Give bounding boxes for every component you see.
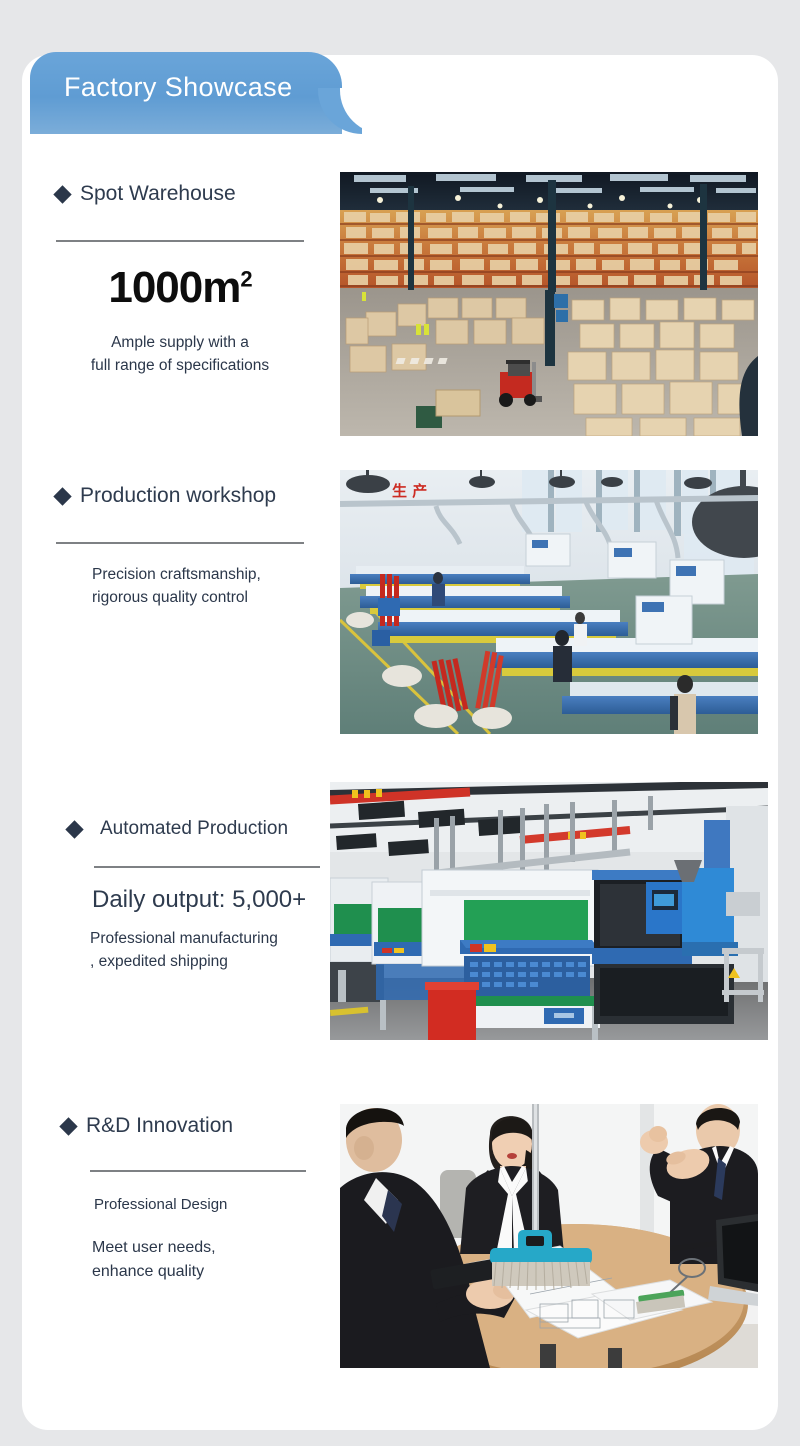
automated-production-photo <box>330 782 768 1040</box>
diamond-icon <box>53 185 71 203</box>
section-4-divider <box>90 1170 306 1172</box>
diamond-icon <box>65 820 83 838</box>
section-1-stat-value: 1000m <box>108 263 240 312</box>
factory-showcase-page: Factory Showcase Spot Warehouse 1000m2 A… <box>0 0 800 1446</box>
section-3-divider <box>94 866 320 868</box>
section-4-title: R&D Innovation <box>86 1114 233 1138</box>
page-title: Factory Showcase <box>64 72 293 103</box>
section-3-stat: Daily output: 5,000+ <box>92 886 320 914</box>
section-3-title: Automated Production <box>100 818 288 840</box>
section-4-text-block: R&D Innovation Professional Design Meet … <box>62 1114 312 1284</box>
section-2-description: Precision craftsmanship, rigorous qualit… <box>92 564 304 610</box>
rd-innovation-photo <box>340 1104 758 1368</box>
section-1-heading: Spot Warehouse <box>56 182 304 206</box>
section-2-divider <box>56 542 304 544</box>
section-3-description: Professional manufacturing , expedited s… <box>90 928 320 974</box>
section-1-stat: 1000m2 <box>108 263 251 312</box>
section-4-stat: Professional Design <box>94 1194 312 1216</box>
section-3-heading: Automated Production <box>68 818 320 840</box>
production-workshop-photo: 生 产 <box>340 470 758 734</box>
section-1-divider <box>56 240 304 242</box>
diamond-icon <box>59 1117 77 1135</box>
svg-text:生 产: 生 产 <box>392 482 427 500</box>
section-1-description: Ample supply with a full range of specif… <box>56 332 304 378</box>
section-1-text-block: Spot Warehouse 1000m2 Ample supply with … <box>56 182 304 378</box>
diamond-icon <box>53 487 71 505</box>
section-2-heading: Production workshop <box>56 484 304 508</box>
header-tab: Factory Showcase <box>30 52 342 134</box>
section-4-description: Meet user needs, enhance quality <box>92 1236 312 1283</box>
section-2-text-block: Production workshop Precision craftsmans… <box>56 484 304 610</box>
spot-warehouse-photo <box>340 172 758 436</box>
section-1-title: Spot Warehouse <box>80 182 236 206</box>
section-1-stat-superscript: 2 <box>240 266 251 291</box>
section-2-title: Production workshop <box>80 484 276 508</box>
section-3-text-block: Automated Production Daily output: 5,000… <box>68 818 320 974</box>
section-4-heading: R&D Innovation <box>62 1114 312 1138</box>
